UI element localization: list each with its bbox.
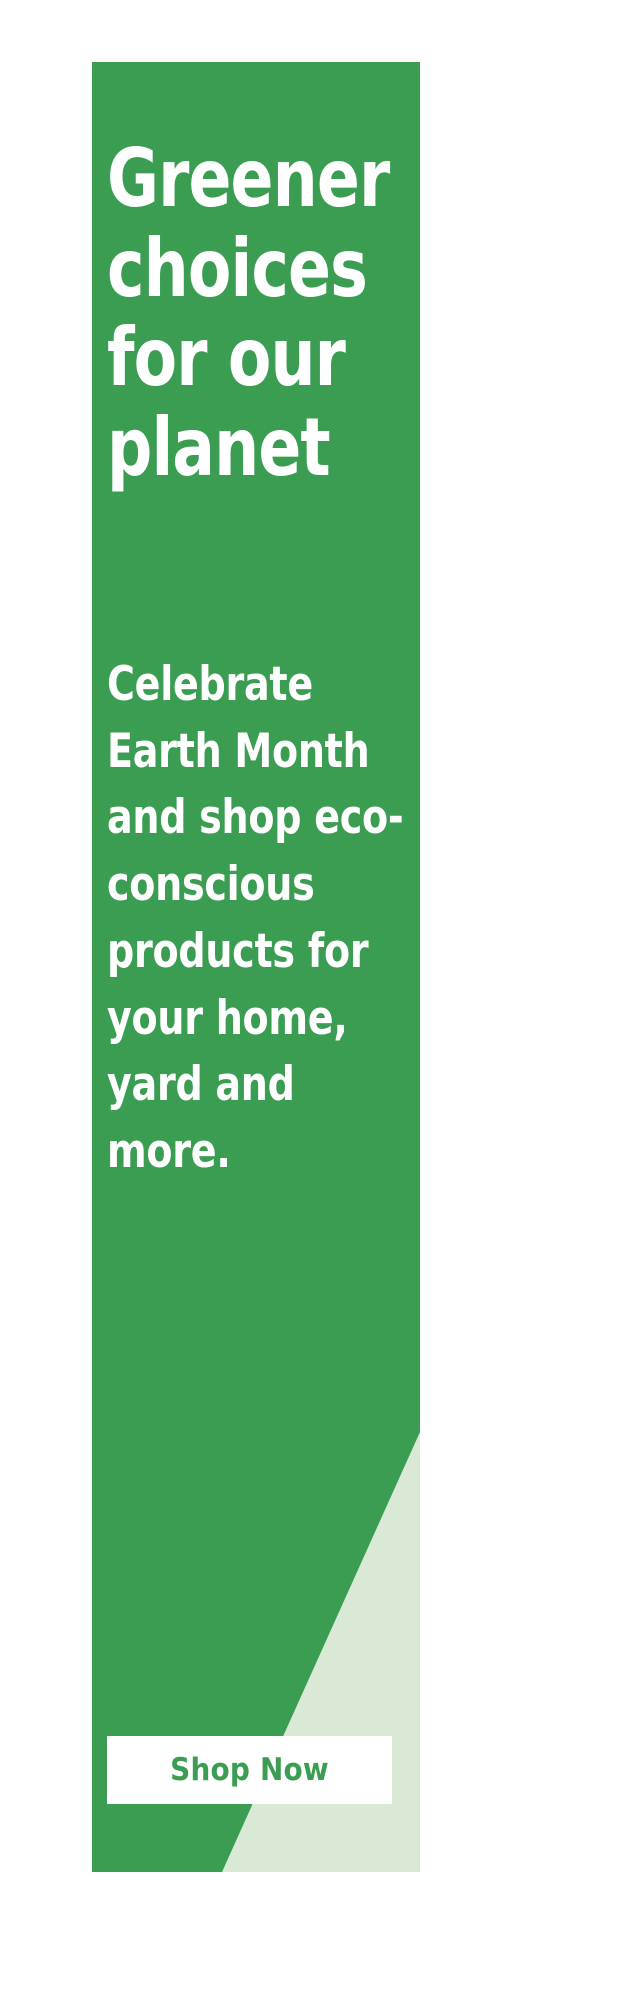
banner-content: Greener choices for our planet Celebrate… — [92, 62, 420, 1872]
promo-banner: Greener choices for our planet Celebrate… — [0, 0, 625, 2000]
shop-now-label: Shop Now — [170, 1752, 329, 1788]
subcopy-paragraph: Celebrate Earth Month and shop eco-consc… — [107, 652, 404, 1186]
headline: Greener choices for our planet — [107, 134, 380, 492]
shop-now-button[interactable]: Shop Now — [107, 1736, 392, 1804]
green-panel: Greener choices for our planet Celebrate… — [92, 62, 420, 1872]
